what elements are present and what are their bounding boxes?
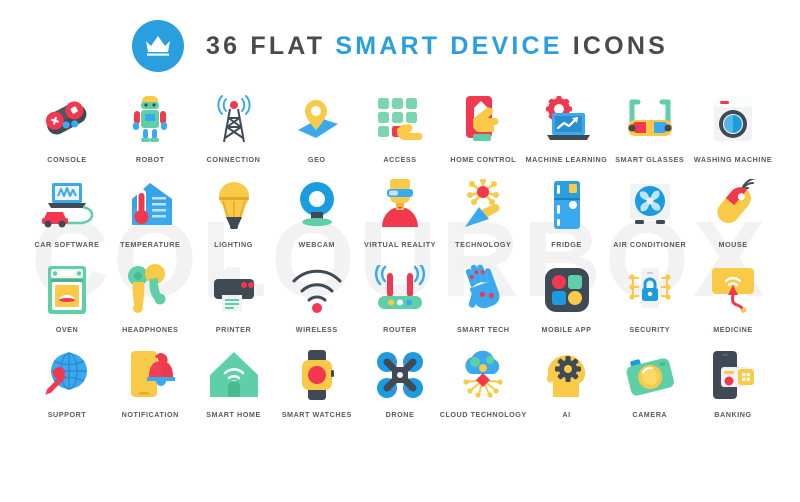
- laptop-gear-chart-icon: [537, 92, 597, 148]
- hand-molecule-icon: [453, 177, 513, 233]
- app-grid-icon: [537, 262, 597, 318]
- icon-cell-air-conditioner[interactable]: AIR CONDITIONER: [609, 177, 691, 249]
- icon-cell-temperature[interactable]: TEMPERATURE: [109, 177, 191, 249]
- icon-cell-mobile-app[interactable]: MOBILE APP: [526, 262, 608, 334]
- icon-cell-banking[interactable]: BANKING: [692, 347, 774, 419]
- washing-machine-icon: [703, 92, 763, 148]
- game-console-icon: [37, 92, 97, 148]
- icon-label: ROUTER: [383, 325, 417, 334]
- icon-cell-connection[interactable]: CONNECTION: [193, 92, 275, 164]
- title-part-2: ICONS: [563, 32, 668, 60]
- icon-cell-smart-home[interactable]: SMART HOME: [193, 347, 275, 419]
- icon-label: ROBOT: [136, 155, 165, 164]
- oven-icon: [37, 262, 97, 318]
- icon-label: BANKING: [714, 410, 751, 419]
- icon-cell-home-control[interactable]: HOME CONTROL: [442, 92, 524, 164]
- icon-label: ACCESS: [383, 155, 416, 164]
- icon-label: LIGHTING: [214, 240, 253, 249]
- icon-label: AIR CONDITIONER: [613, 240, 686, 249]
- icon-cell-lighting[interactable]: LIGHTING: [193, 177, 275, 249]
- camera-icon: [620, 347, 680, 403]
- icon-label: SMART WATCHES: [282, 410, 352, 419]
- head-gear-icon: [537, 347, 597, 403]
- icon-cell-drone[interactable]: DRONE: [359, 347, 441, 419]
- icon-cell-smart-tech[interactable]: SMART TECH: [442, 262, 524, 334]
- icon-cell-printer[interactable]: PRINTER: [193, 262, 275, 334]
- vr-person-icon: [370, 177, 430, 233]
- icon-grid: CONSOLE: [0, 92, 800, 419]
- light-bulb-icon: [204, 177, 264, 233]
- icon-label: TEMPERATURE: [120, 240, 180, 249]
- icon-label: WIRELESS: [296, 325, 338, 334]
- icon-cell-webcam[interactable]: WEBCAM: [276, 177, 358, 249]
- icon-cell-ai[interactable]: AI: [526, 347, 608, 419]
- home-wifi-icon: [204, 347, 264, 403]
- icon-cell-medicine[interactable]: MEDICINE: [692, 262, 774, 334]
- icon-label: CONSOLE: [47, 155, 86, 164]
- icon-cell-mouse[interactable]: MOUSE: [692, 177, 774, 249]
- page-header: 36 FLAT SMART DEVICE ICONS: [0, 0, 800, 92]
- icon-label: MACHINE LEARNING: [526, 155, 608, 164]
- icon-label: CLOUD TECHNOLOGY: [440, 410, 527, 419]
- phone-lock-icon: [620, 262, 680, 318]
- icon-cell-support[interactable]: SUPPORT: [26, 347, 108, 419]
- icon-cell-smart-glasses[interactable]: SMART GLASSES: [609, 92, 691, 164]
- icon-label: FRIDGE: [551, 240, 581, 249]
- icon-cell-machine-learning[interactable]: MACHINE LEARNING: [526, 92, 608, 164]
- icon-label: SMART TECH: [457, 325, 510, 334]
- title-part-1: 36 FLAT: [206, 32, 335, 60]
- icon-row: CONSOLE: [26, 92, 774, 164]
- icon-cell-notification[interactable]: NOTIFICATION: [109, 347, 191, 419]
- icon-cell-fridge[interactable]: FRIDGE: [526, 177, 608, 249]
- antenna-tower-icon: [204, 92, 264, 148]
- icon-label: WASHING MACHINE: [694, 155, 772, 164]
- icon-row: CAR SOFTWARE TEMPERATURE: [26, 177, 774, 249]
- earbuds-icon: [120, 262, 180, 318]
- wireless-mouse-icon: [703, 177, 763, 233]
- fan-icon: [620, 177, 680, 233]
- icon-label: TECHNOLOGY: [455, 240, 511, 249]
- icon-label: CAR SOFTWARE: [35, 240, 100, 249]
- icon-cell-technology[interactable]: TECHNOLOGY: [442, 177, 524, 249]
- crown-icon: [143, 33, 173, 59]
- robot-icon: [120, 92, 180, 148]
- icon-cell-oven[interactable]: OVEN: [26, 262, 108, 334]
- page-title: 36 FLAT SMART DEVICE ICONS: [206, 32, 668, 61]
- phone-hand-home-icon: [453, 92, 513, 148]
- icon-cell-security[interactable]: SECURITY: [609, 262, 691, 334]
- icon-cell-cloud-technology[interactable]: CLOUD TECHNOLOGY: [442, 347, 524, 419]
- wifi-signal-icon: [287, 262, 347, 318]
- icon-label: SECURITY: [629, 325, 670, 334]
- title-highlight: SMART DEVICE: [335, 32, 562, 60]
- laptop-car-icon: [37, 177, 97, 233]
- map-pin-icon: [287, 92, 347, 148]
- icon-label: SMART HOME: [206, 410, 261, 419]
- icon-cell-car-software[interactable]: CAR SOFTWARE: [26, 177, 108, 249]
- router-icon: [370, 262, 430, 318]
- icon-cell-geo[interactable]: GEO: [276, 92, 358, 164]
- keypad-hand-icon: [370, 92, 430, 148]
- phone-bell-icon: [120, 347, 180, 403]
- icon-label: MEDICINE: [713, 325, 753, 334]
- crown-logo-badge: [132, 20, 184, 72]
- icon-cell-wireless[interactable]: WIRELESS: [276, 262, 358, 334]
- icon-label: MOUSE: [718, 240, 747, 249]
- icon-label: SMART GLASSES: [615, 155, 684, 164]
- icon-cell-router[interactable]: ROUTER: [359, 262, 441, 334]
- printer-icon: [204, 262, 264, 318]
- icon-cell-washing-machine[interactable]: WASHING MACHINE: [692, 92, 774, 164]
- smart-glove-icon: [453, 262, 513, 318]
- icon-cell-virtual-reality[interactable]: VIRTUAL REALITY: [359, 177, 441, 249]
- phone-card-icon: [703, 347, 763, 403]
- icon-cell-camera[interactable]: CAMERA: [609, 347, 691, 419]
- icon-label: HOME CONTROL: [450, 155, 516, 164]
- cloud-network-icon: [453, 347, 513, 403]
- icon-label: CAMERA: [632, 410, 667, 419]
- icon-cell-robot[interactable]: ROBOT: [109, 92, 191, 164]
- icon-label: GEO: [308, 155, 326, 164]
- fridge-icon: [537, 177, 597, 233]
- icon-cell-console[interactable]: CONSOLE: [26, 92, 108, 164]
- icon-row: OVEN HEADPHONES: [26, 262, 774, 334]
- smart-glasses-icon: [620, 92, 680, 148]
- icon-label: WEBCAM: [299, 240, 335, 249]
- icon-label: VIRTUAL REALITY: [364, 240, 436, 249]
- icon-cell-smart-watches[interactable]: SMART WATCHES: [276, 347, 358, 419]
- icon-label: AI: [562, 410, 570, 419]
- icon-label: NOTIFICATION: [122, 410, 179, 419]
- house-thermometer-icon: [120, 177, 180, 233]
- icon-label: HEADPHONES: [122, 325, 178, 334]
- drone-icon: [370, 347, 430, 403]
- icon-cell-headphones[interactable]: HEADPHONES: [109, 262, 191, 334]
- icon-cell-access[interactable]: ACCESS: [359, 92, 441, 164]
- icon-label: DRONE: [386, 410, 415, 419]
- icon-label: PRINTER: [216, 325, 251, 334]
- icon-label: SUPPORT: [48, 410, 87, 419]
- webcam-icon: [287, 177, 347, 233]
- medical-signal-icon: [703, 262, 763, 318]
- smart-watch-icon: [287, 347, 347, 403]
- icon-label: CONNECTION: [207, 155, 261, 164]
- globe-wrench-icon: [37, 347, 97, 403]
- icon-label: MOBILE APP: [542, 325, 592, 334]
- icon-row: SUPPORT NOTIFICATION: [26, 347, 774, 419]
- icon-label: OVEN: [56, 325, 79, 334]
